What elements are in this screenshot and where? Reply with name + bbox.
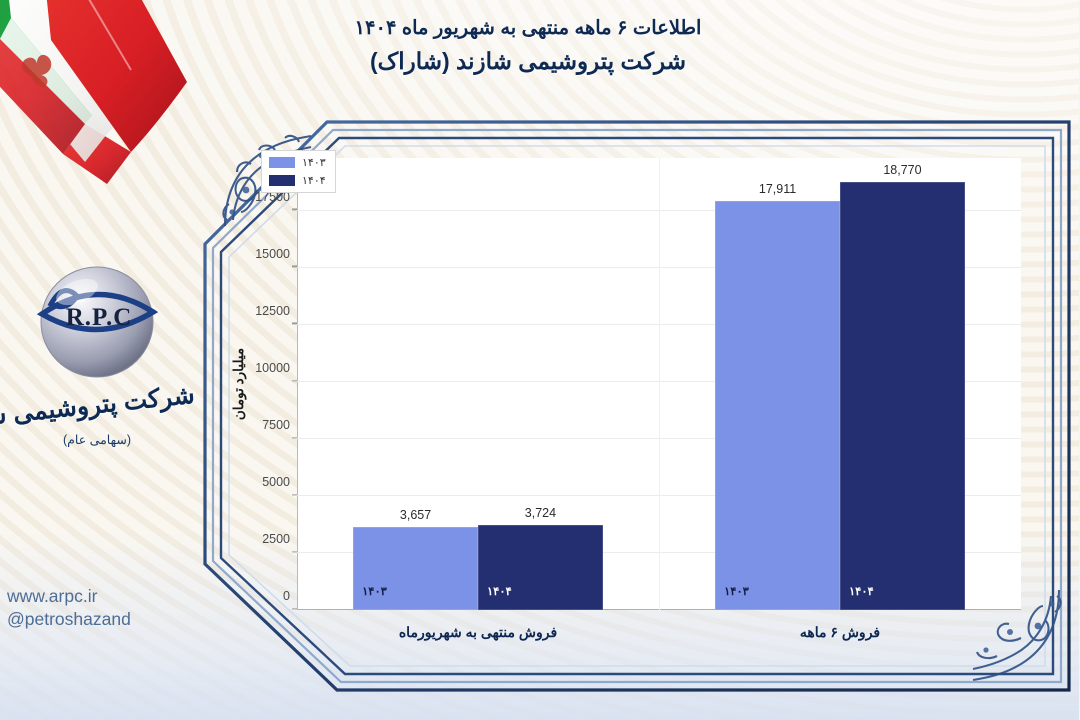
legend-label-1403: ۱۴۰۳ bbox=[303, 156, 327, 169]
plot-wrapper: میلیارد تومان 02500500075001000012500150… bbox=[298, 158, 1022, 610]
bar-value-label: 17,911 bbox=[760, 182, 797, 196]
brand-company-type: (سهامی عام) bbox=[0, 432, 196, 447]
bar-value-label: 3,657 bbox=[401, 508, 432, 522]
y-axis-tick-label: 5000 bbox=[263, 475, 291, 489]
y-axis-tick-mark bbox=[293, 551, 298, 552]
legend-item[interactable]: ۱۴۰۳ bbox=[270, 156, 327, 169]
bar-year-label: ۱۴۰۴ bbox=[488, 584, 513, 598]
category-divider bbox=[660, 158, 661, 610]
plot-area: 025005000750010000125001500017500 3,657۱… bbox=[298, 158, 1022, 610]
y-axis-title: میلیارد تومان bbox=[232, 348, 248, 420]
bar-year-label: ۱۴۰۴ bbox=[850, 584, 875, 598]
bar-۱۴۰۴-2[interactable]: 18,770۱۴۰۴ bbox=[841, 182, 966, 610]
bar-value-label: 18,770 bbox=[884, 163, 922, 177]
bar-year-label: ۱۴۰۳ bbox=[725, 584, 750, 598]
y-axis-tick-mark bbox=[293, 608, 298, 609]
rpc-logo-icon: R.P.C bbox=[30, 262, 166, 388]
y-axis-tick-mark bbox=[293, 266, 298, 267]
category-label: فروش منتهی به شهریورماه bbox=[400, 624, 558, 641]
legend-item[interactable]: ۱۴۰۴ bbox=[270, 174, 327, 187]
bar-۱۴۰۳-2[interactable]: 17,911۱۴۰۳ bbox=[716, 201, 841, 610]
bar-۱۴۰۴-1[interactable]: 3,724۱۴۰۴ bbox=[479, 525, 604, 610]
y-axis-tick-label: 7500 bbox=[263, 418, 291, 432]
chart-panel: میلیارد تومان 02500500075001000012500150… bbox=[196, 112, 1080, 700]
y-axis-tick-mark bbox=[293, 323, 298, 324]
chart-legend: ۱۴۰۳ ۱۴۰۴ bbox=[262, 150, 337, 193]
bar-۱۴۰۳-1[interactable]: 3,657۱۴۰۳ bbox=[354, 527, 479, 610]
bar-chart: میلیارد تومان 02500500075001000012500150… bbox=[224, 134, 1044, 678]
y-axis-tick-label: 10000 bbox=[256, 361, 291, 375]
y-axis-tick-mark bbox=[293, 494, 298, 495]
y-axis-tick-mark bbox=[293, 437, 298, 438]
brand-block: R.P.C شرکت پتروشیمی شازند (سهامی عام) bbox=[0, 262, 196, 447]
website-link[interactable]: www.arpc.ir bbox=[8, 585, 208, 608]
legend-swatch-1403-icon bbox=[270, 157, 296, 168]
legend-swatch-1404-icon bbox=[270, 175, 296, 186]
y-axis-tick-mark bbox=[293, 380, 298, 381]
y-axis-tick-label: 0 bbox=[284, 589, 291, 603]
y-axis-tick-label: 2500 bbox=[263, 532, 291, 546]
header-company-title: شرکت پتروشیمی شازند (شاراک) bbox=[0, 43, 1058, 81]
y-axis-tick-label: 15000 bbox=[256, 247, 291, 261]
y-axis-tick-mark bbox=[293, 209, 298, 210]
y-axis-tick-label: 12500 bbox=[256, 304, 291, 318]
social-handle[interactable]: @petroshazand bbox=[8, 608, 208, 631]
contact-block: www.arpc.ir @petroshazand bbox=[8, 585, 208, 631]
legend-label-1404: ۱۴۰۴ bbox=[303, 174, 327, 187]
category-label: فروش ۶ ماهه bbox=[801, 624, 881, 641]
header-subtitle: اطلاعات ۶ ماهه منتهی به شهریور ماه ۱۴۰۴ bbox=[0, 14, 1058, 43]
svg-text:R.P.C: R.P.C bbox=[67, 304, 134, 331]
bar-value-label: 3,724 bbox=[526, 506, 557, 520]
bar-year-label: ۱۴۰۳ bbox=[363, 584, 388, 598]
header: اطلاعات ۶ ماهه منتهی به شهریور ماه ۱۴۰۴ … bbox=[0, 14, 1058, 81]
